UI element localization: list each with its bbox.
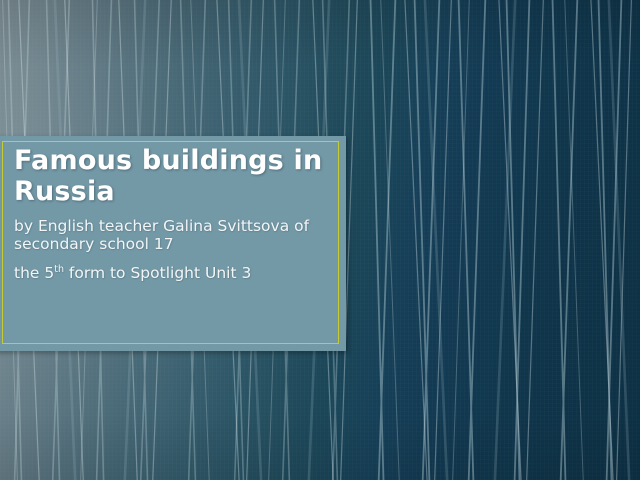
title-box-content: Famous buildings in Russia by English te…: [14, 145, 328, 282]
slide-subtitle-author: by English teacher Galina Svittsova of s…: [14, 217, 328, 253]
slide-title: Famous buildings in Russia: [14, 145, 328, 207]
title-text-box[interactable]: Famous buildings in Russia by English te…: [0, 136, 346, 351]
slide-subtitle-unit: the 5th form to Spotlight Unit 3: [14, 264, 328, 282]
subtitle-ordinal-suffix: th: [54, 264, 64, 275]
subtitle-unit-rest: form to Spotlight Unit 3: [64, 264, 251, 282]
presentation-slide: Famous buildings in Russia by English te…: [0, 0, 640, 480]
subtitle-unit-prefix: the 5: [14, 264, 54, 282]
